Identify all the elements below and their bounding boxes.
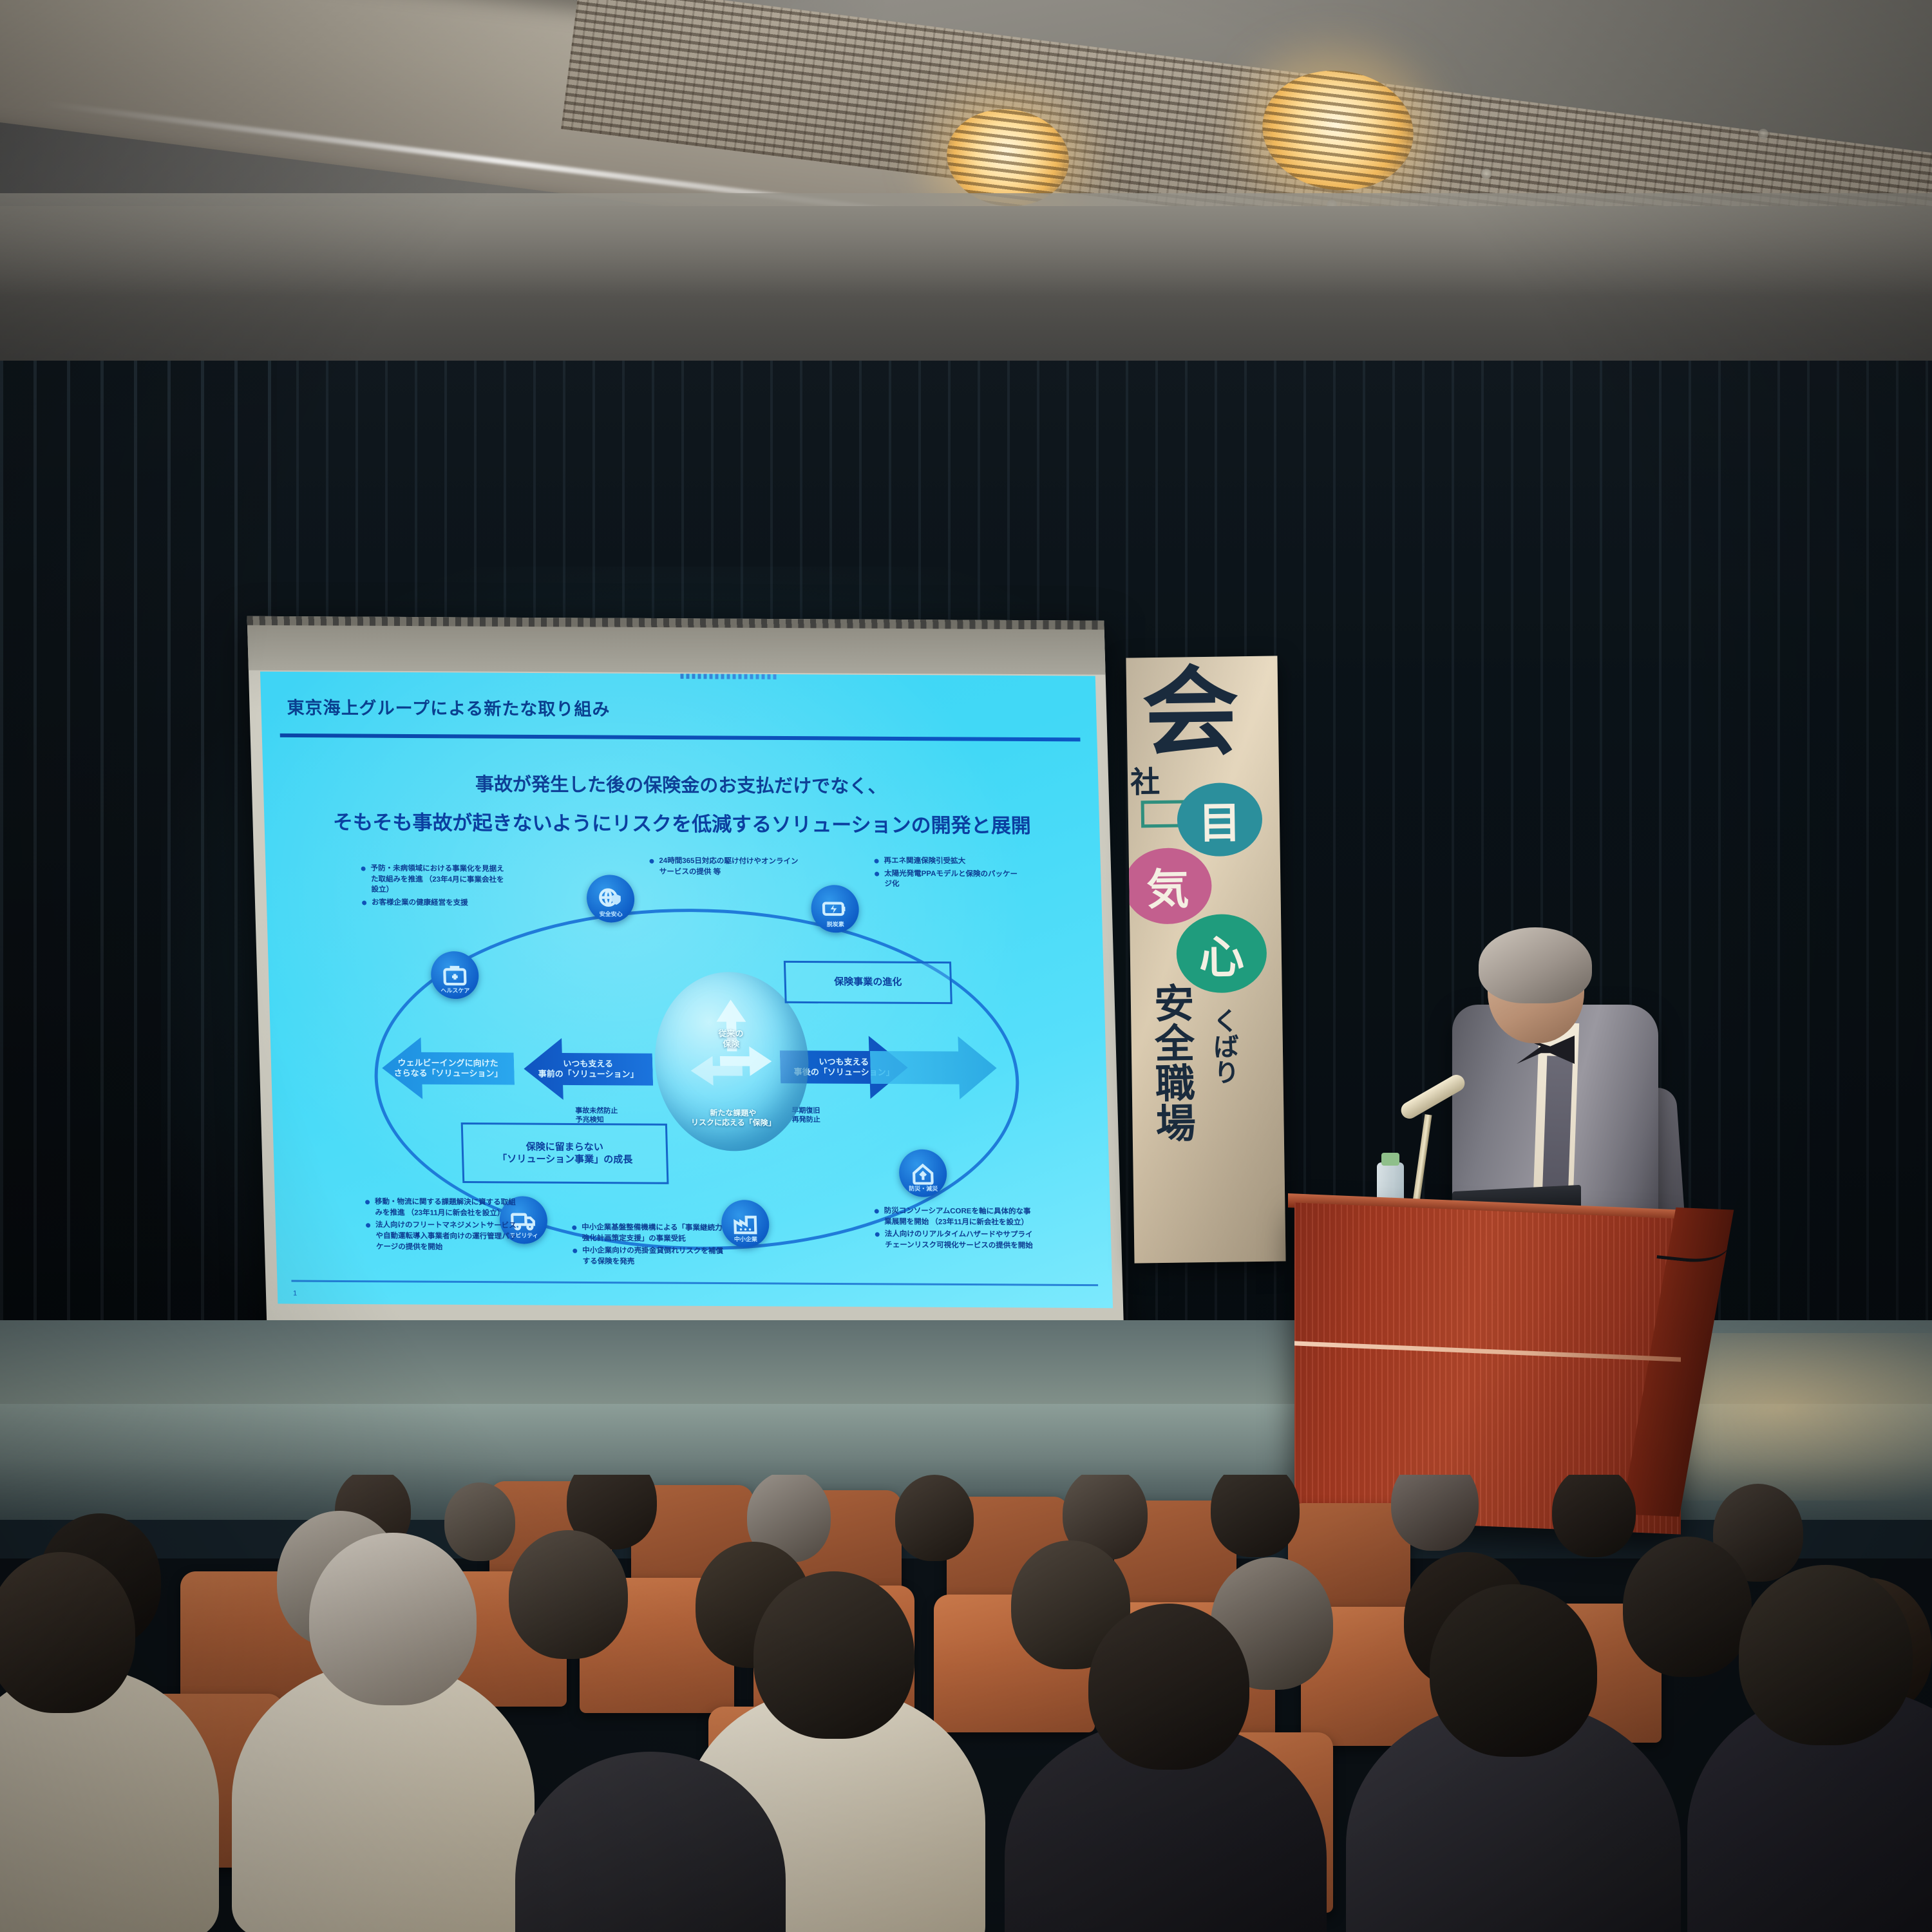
- projection-screen: 東京海上グループによる新たな取り組み 事故が発生した後の保険金のお支払だけでなく…: [247, 616, 1125, 1361]
- globe-shield-icon: 安全安心: [586, 875, 635, 922]
- list-item: 中小企業向けの売掛金貸倒れリスクを補償する保険を発売: [573, 1245, 728, 1268]
- callout-evolution: 保険事業の進化: [784, 961, 952, 1004]
- icon-caption: ヘルスケア: [440, 986, 469, 994]
- banner-kubari-text: くばり: [1209, 1007, 1238, 1085]
- audience-head: [444, 1482, 515, 1561]
- icon-caption: 安全安心: [600, 909, 623, 918]
- icon-caption: 中小企業: [734, 1235, 757, 1243]
- list-item: 24時間365日対応の駆け付けやオンラインサービスの提供 等: [649, 856, 804, 878]
- list-item: 再エネ関連保険引受拡大: [874, 856, 1021, 867]
- list-item: 法人向けのリアルタイムハザードやサプライチェーンリスク可視化サービスの提供を開始: [875, 1229, 1037, 1252]
- audience-head: [509, 1530, 628, 1659]
- icon-caption: 防災・減災: [909, 1184, 938, 1193]
- list-item: お客様企業の健康経営を支援: [362, 897, 511, 909]
- auditorium-scene: 東京海上グループによる新たな取り組み 事故が発生した後の保険金のお支払だけでなく…: [0, 0, 1932, 1932]
- audience-area: [0, 1475, 1932, 1932]
- event-banner: 会 社 目 気 心 くばり 安全職場: [1126, 656, 1285, 1263]
- bullet-group-safety: 24時間365日対応の駆け付けやオンラインサービスの提供 等: [649, 856, 804, 880]
- water-bottle-cap: [1381, 1153, 1399, 1166]
- banner-vertical-text: 安全職場: [1150, 982, 1193, 1142]
- bullet-group-healthcare: 予防・未病領域における事業化を見据えた取組みを推進 （23年4月に事業会社を設立…: [361, 863, 510, 911]
- presentation-slide: 東京海上グループによる新たな取り組み 事故が発生した後の保険金のお支払だけでなく…: [260, 672, 1113, 1308]
- bullet-group-sme: 中小企業基盤整備機構による「事業継続力強化計画策定支援」の事業受託 中小企業向け…: [572, 1222, 728, 1270]
- arrow-label: いつも支える 事前の「ソリューション」: [531, 1058, 645, 1079]
- audience-head: [1623, 1537, 1752, 1677]
- sphere-center-label: 従来の 保険: [718, 1028, 744, 1050]
- slide-subtitle-line2: そもそも事故が起きないようにリスクを低減するソリューションの開発と展開: [264, 806, 1100, 839]
- audience-head: [309, 1533, 477, 1705]
- banner-kanji-second: 社: [1130, 767, 1160, 797]
- screen-frame-top: [247, 616, 1106, 675]
- list-item: 移動・物流に関する課題解決に資する取組みを推進 （23年11月に新会社を設立）: [365, 1197, 520, 1219]
- audience-head: [895, 1475, 974, 1561]
- ceiling-spot-icon: [1481, 169, 1492, 179]
- audience-head: [1430, 1584, 1597, 1757]
- list-item: 中小企業基盤整備機構による「事業継続力強化計画策定支援」の事業受託: [572, 1222, 727, 1245]
- slide-header: 東京海上グループによる新たな取り組み: [287, 694, 1075, 737]
- list-item: 法人向けのフリートマネジメントサービスや自動運転導入事業者向けの運行管理パッケー…: [366, 1220, 522, 1253]
- speaker-hair: [1479, 927, 1592, 1003]
- audience-head: [1211, 1475, 1300, 1557]
- bullet-group-decarbonization: 再エネ関連保険引受拡大 太陽光発電PPAモデルと保険のパッケージ化: [874, 856, 1022, 893]
- stage-curtain-left: [0, 361, 277, 1455]
- audience-head: [1391, 1475, 1479, 1551]
- slide-title: 東京海上グループによる新たな取り組み: [287, 694, 1075, 723]
- slide-page-number: 1: [293, 1290, 297, 1298]
- ceiling-spot-icon: [1758, 129, 1768, 139]
- banner-kanji-top: 会: [1142, 664, 1240, 762]
- list-item: 太陽光発電PPAモデルと保険のパッケージ化: [875, 868, 1022, 891]
- sphere-bottom-label: 新たな課題や リスクに応える「保険」: [690, 1108, 776, 1128]
- callout-growth: 保険に留まらない 「ソリューション事業」の成長: [461, 1122, 669, 1184]
- icon-caption: 脱炭素: [827, 920, 844, 928]
- bullet-group-disaster: 防災コンソーシアムCOREを軸に具体的な事業展開を開始 （23年11月に新会社を…: [875, 1206, 1037, 1253]
- list-item: 予防・未病領域における事業化を見据えた取組みを推進 （23年4月に事業会社を設立…: [361, 863, 510, 896]
- slide-subtitle-line1: 事故が発生した後の保険金のお支払だけでなく、: [263, 768, 1099, 800]
- wall-gradient: [0, 193, 1932, 296]
- audience-head: [1739, 1565, 1913, 1745]
- audience-head: [1088, 1604, 1249, 1770]
- arrow-label: ウェルビーイングに向けた さらなる「ソリューション」: [387, 1057, 509, 1079]
- audience-head: [1552, 1475, 1636, 1557]
- cycle-arrows-icon: [668, 985, 796, 1121]
- list-item: 防災コンソーシアムCOREを軸に具体的な事業展開を開始 （23年11月に新会社を…: [875, 1206, 1036, 1228]
- bullet-group-mobility: 移動・物流に関する課題解決に資する取組みを推進 （23年11月に新会社を設立） …: [365, 1197, 522, 1255]
- audience-head: [753, 1571, 914, 1739]
- arrow-sublabel-pre: 事故未然防止 予兆検知: [575, 1106, 618, 1125]
- slide-diagram: ヘルスケア 安全安心 脱炭素 防災・減災 中小企業: [265, 836, 1112, 1291]
